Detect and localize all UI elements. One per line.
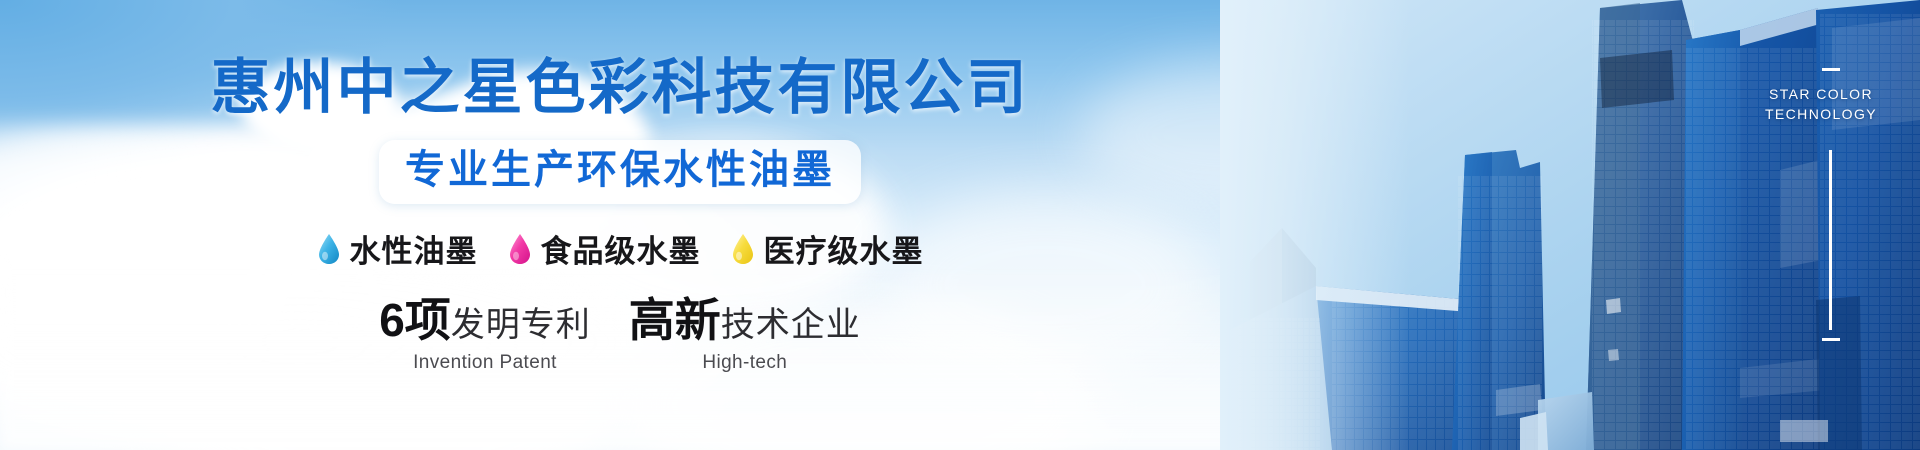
badge-rest-text: 技术企业 (721, 308, 861, 342)
feature-label: 医疗级水墨 (764, 226, 924, 271)
badge-rest-text: 发明专利 (451, 308, 591, 342)
company-hero-banner: Star Color (0, 0, 1920, 450)
city-edge-fade (1220, 0, 1410, 450)
badge-line: 6项 发明专利 (379, 297, 591, 343)
subtitle-text: 专业生产环保水性油墨 (405, 148, 835, 192)
feature-item-food-grade-ink: 食品级水墨 (508, 226, 701, 271)
feature-list: 水性油墨 食品级水墨 (317, 226, 924, 271)
overlay-tick-top (1822, 68, 1840, 71)
water-drop-icon (508, 233, 532, 265)
badge-line: 高新 技术企业 (629, 297, 861, 343)
badge-english-text: High-tech (629, 352, 861, 374)
water-drop-icon (317, 233, 341, 265)
badge-strong-text: 高新 (629, 297, 721, 343)
badge-high-tech: 高新 技术企业 High-tech (629, 297, 861, 374)
overlay-tick-bottom (1822, 338, 1840, 341)
water-drop-icon (731, 233, 755, 265)
badge-english-text: Invention Patent (379, 352, 591, 374)
subtitle-pill: 专业生产环保水性油墨 (379, 140, 861, 204)
feature-item-medical-grade-ink: 医疗级水墨 (731, 226, 924, 271)
feature-item-water-based-ink: 水性油墨 (317, 226, 478, 271)
feature-label: 水性油墨 (350, 226, 478, 271)
overlay-line-1: STAR COLOR (1746, 84, 1896, 104)
badge-strong-text: 6项 (379, 297, 451, 343)
city-skyline-photo (1220, 0, 1920, 450)
badge-invention-patent: 6项 发明专利 Invention Patent (379, 297, 591, 374)
page-title: 惠州中之星色彩科技有限公司 (211, 58, 1030, 118)
banner-content: 惠州中之星色彩科技有限公司 专业生产环保水性油墨 水性油墨 (0, 0, 1240, 450)
overlay-vertical-rule (1829, 150, 1832, 330)
overlay-line-2: TECHNOLOGY (1746, 104, 1896, 124)
star-color-technology-overlay: STAR COLOR TECHNOLOGY (1746, 84, 1896, 125)
feature-label: 食品级水墨 (541, 226, 701, 271)
credential-badges: 6项 发明专利 Invention Patent 高新 技术企业 High-te… (379, 297, 861, 374)
